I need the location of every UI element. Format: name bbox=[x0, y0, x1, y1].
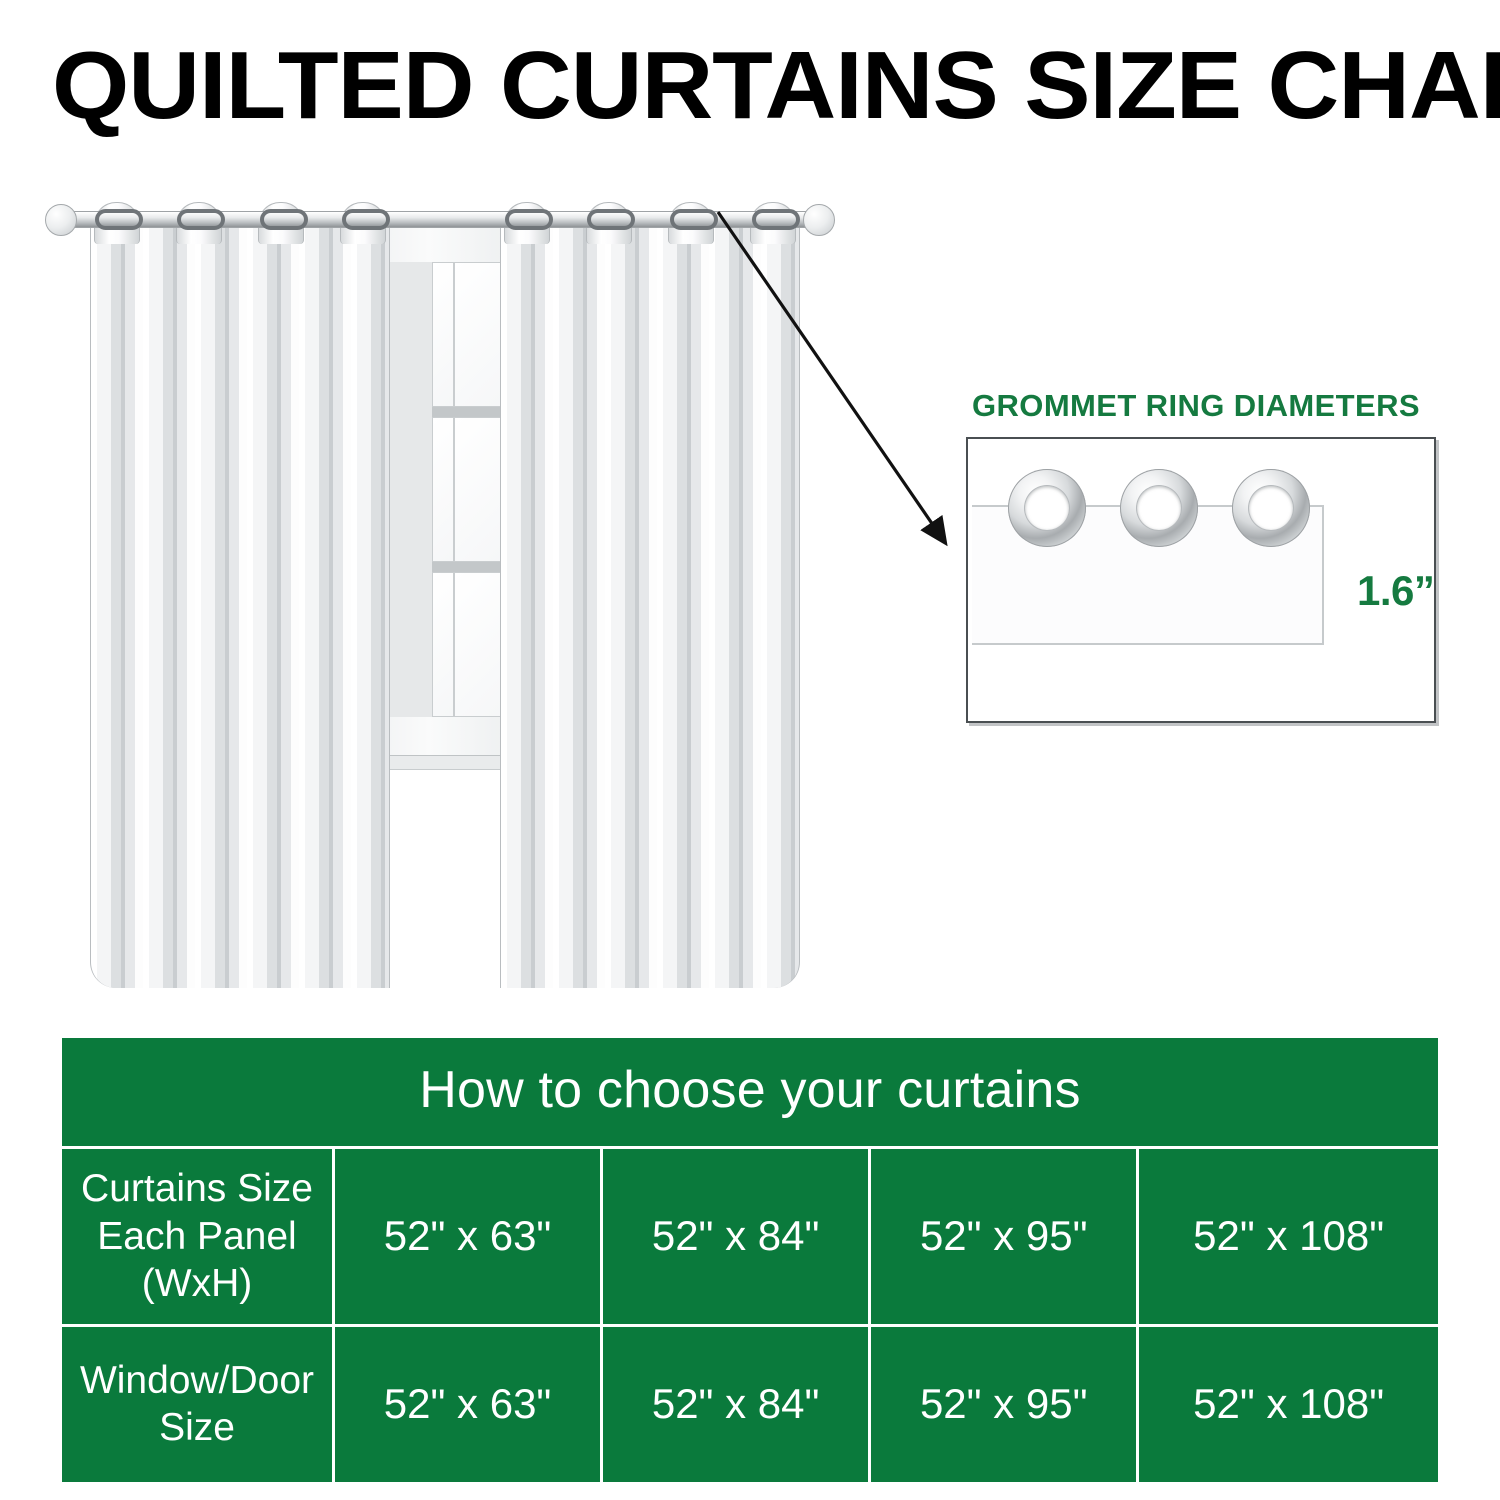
row-label-line: Window/Door bbox=[80, 1359, 314, 1402]
window-sill bbox=[376, 755, 509, 769]
row-label-window-size: Window/Door Size bbox=[62, 1327, 335, 1482]
table-row-window-size: Window/Door Size 52" x 63" 52" x 84" 52"… bbox=[62, 1327, 1438, 1482]
grommet-detail-heading: GROMMET RING DIAMETERS bbox=[972, 388, 1420, 424]
rod-finial-right-icon bbox=[803, 204, 835, 236]
row-label-curtain-size: Curtains Size Each Panel (WxH) bbox=[62, 1149, 335, 1327]
left-curtain-panel bbox=[90, 202, 390, 1002]
grommet-ring-icon bbox=[95, 209, 143, 230]
window-pane bbox=[432, 417, 454, 562]
window-pane bbox=[454, 572, 502, 717]
window-mullion-vertical bbox=[384, 262, 432, 717]
cell-curtain-size-3: 52" x 95" bbox=[871, 1149, 1139, 1327]
window-behind-curtains bbox=[375, 225, 510, 770]
table-title: How to choose your curtains bbox=[62, 1038, 1438, 1149]
row-label-line: Curtains Size bbox=[81, 1167, 313, 1210]
window-mullion-horizontal bbox=[432, 407, 454, 417]
cell-window-size-2: 52" x 84" bbox=[603, 1327, 871, 1482]
cell-curtain-size-1: 52" x 63" bbox=[335, 1149, 603, 1327]
window-pane-grid bbox=[384, 262, 501, 717]
right-curtain-fabric bbox=[500, 220, 800, 988]
left-curtain-fabric bbox=[90, 220, 390, 988]
grommet-ring-icon bbox=[342, 209, 390, 230]
size-table: How to choose your curtains Curtains Siz… bbox=[62, 1038, 1438, 1482]
window-mullion-horizontal bbox=[454, 562, 502, 572]
grommet-ring-icon bbox=[1008, 469, 1086, 547]
table-header-row: How to choose your curtains bbox=[62, 1038, 1438, 1149]
right-curtain-panel bbox=[500, 202, 800, 1002]
cell-window-size-4: 52" x 108" bbox=[1139, 1327, 1438, 1482]
rod-finial-left-icon bbox=[45, 204, 77, 236]
cell-window-size-1: 52" x 63" bbox=[335, 1327, 603, 1482]
window-mullion-horizontal bbox=[432, 562, 454, 572]
window-pane bbox=[432, 262, 454, 407]
cell-curtain-size-4: 52" x 108" bbox=[1139, 1149, 1438, 1327]
table-row-curtain-size: Curtains Size Each Panel (WxH) 52" x 63"… bbox=[62, 1149, 1438, 1327]
grommet-ring-icon bbox=[587, 209, 635, 230]
cell-window-size-3: 52" x 95" bbox=[871, 1327, 1139, 1482]
grommet-ring-icon bbox=[752, 209, 800, 230]
window-pane bbox=[454, 262, 502, 407]
curtain-illustration bbox=[45, 180, 835, 1000]
window-pane bbox=[432, 572, 454, 717]
grommet-ring-icon bbox=[670, 209, 718, 230]
row-label-line: Size bbox=[159, 1406, 235, 1449]
grommet-ring-icon bbox=[260, 209, 308, 230]
window-pane bbox=[454, 417, 502, 562]
row-label-line: Each Panel bbox=[97, 1215, 296, 1258]
grommet-diameter-label: 1.6” bbox=[1357, 567, 1434, 615]
grommet-ring-icon bbox=[505, 209, 553, 230]
window-mullion-horizontal bbox=[454, 407, 502, 417]
row-label-line: (WxH) bbox=[142, 1262, 252, 1305]
grommet-ring-icon bbox=[177, 209, 225, 230]
cell-curtain-size-2: 52" x 84" bbox=[603, 1149, 871, 1327]
page-title: QUILTED CURTAINS SIZE CHART bbox=[52, 36, 1500, 136]
grommet-ring-icon bbox=[1120, 469, 1198, 547]
size-chart-page: QUILTED CURTAINS SIZE CHART bbox=[0, 0, 1500, 1500]
grommet-ring-icon bbox=[1232, 469, 1310, 547]
